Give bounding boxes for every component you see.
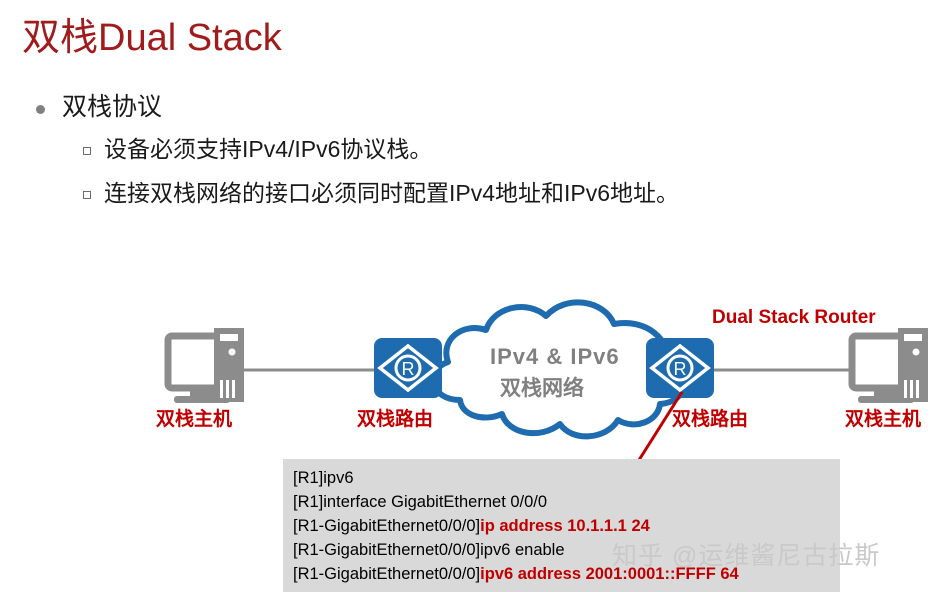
bullet-dot-icon xyxy=(36,105,45,114)
bullet-level1: 双栈协议 xyxy=(30,92,910,123)
cli-line: [R1-GigabitEthernet0/0/0]ip address 10.1… xyxy=(293,514,840,538)
label-host-left: 双栈主机 xyxy=(156,404,232,431)
watermark: 知乎 @运维酱尼古拉斯 xyxy=(612,536,880,572)
label-dual-stack-router: Dual Stack Router xyxy=(712,307,876,329)
router-icon-left: R xyxy=(374,338,442,398)
cli-text: ipv6 enable xyxy=(480,541,564,559)
label-router-left: 双栈路由 xyxy=(357,404,433,431)
cli-text: ipv6 xyxy=(323,469,353,487)
cloud-label-line2: 双栈网络 xyxy=(500,372,584,402)
svg-text:R: R xyxy=(674,359,687,379)
router-icon-right: R xyxy=(646,338,714,398)
label-host-right: 双栈主机 xyxy=(845,404,921,431)
bullet-level1-text: 双栈协议 xyxy=(62,93,162,121)
bullet-square-icon xyxy=(83,147,91,155)
bullet-list: 双栈协议 设备必须支持IPv4/IPv6协议栈。 连接双栈网络的接口必须同时配置… xyxy=(30,92,910,223)
cli-prompt: [R1-GigabitEthernet0/0/0] xyxy=(293,541,480,559)
bullet-level2-text: 设备必须支持IPv4/IPv6协议栈。 xyxy=(104,136,432,162)
cli-text: interface GigabitEthernet 0/0/0 xyxy=(323,493,547,511)
bullet-level2-item: 连接双栈网络的接口必须同时配置IPv4地址和IPv6地址。 xyxy=(30,179,910,209)
network-diagram: R R xyxy=(0,270,942,470)
cli-prompt: [R1-GigabitEthernet0/0/0] xyxy=(293,517,480,535)
host-icon-right xyxy=(852,328,928,403)
host-icon-left xyxy=(168,328,244,403)
cli-prompt: [R1] xyxy=(293,493,323,511)
page-title: 双栈Dual Stack xyxy=(22,6,282,61)
cli-prompt: [R1] xyxy=(293,469,323,487)
cli-highlight: ip address 10.1.1.1 24 xyxy=(480,517,650,535)
cli-config-box: [R1]ipv6 [R1]interface GigabitEthernet 0… xyxy=(283,459,840,592)
cloud-label-line1: IPv4 & IPv6 xyxy=(490,344,620,370)
svg-text:R: R xyxy=(402,359,415,379)
cli-line: [R1]interface GigabitEthernet 0/0/0 xyxy=(293,490,840,514)
bullet-level2-text: 连接双栈网络的接口必须同时配置IPv4地址和IPv6地址。 xyxy=(104,180,679,206)
bullet-square-icon xyxy=(83,191,91,199)
slide-canvas: 双栈Dual Stack 双栈协议 设备必须支持IPv4/IPv6协议栈。 连接… xyxy=(0,0,942,592)
bullet-level2-item: 设备必须支持IPv4/IPv6协议栈。 xyxy=(30,135,910,165)
label-router-right: 双栈路由 xyxy=(672,404,748,431)
cli-line: [R1]ipv6 xyxy=(293,466,840,490)
cli-prompt: [R1-GigabitEthernet0/0/0] xyxy=(293,565,480,583)
